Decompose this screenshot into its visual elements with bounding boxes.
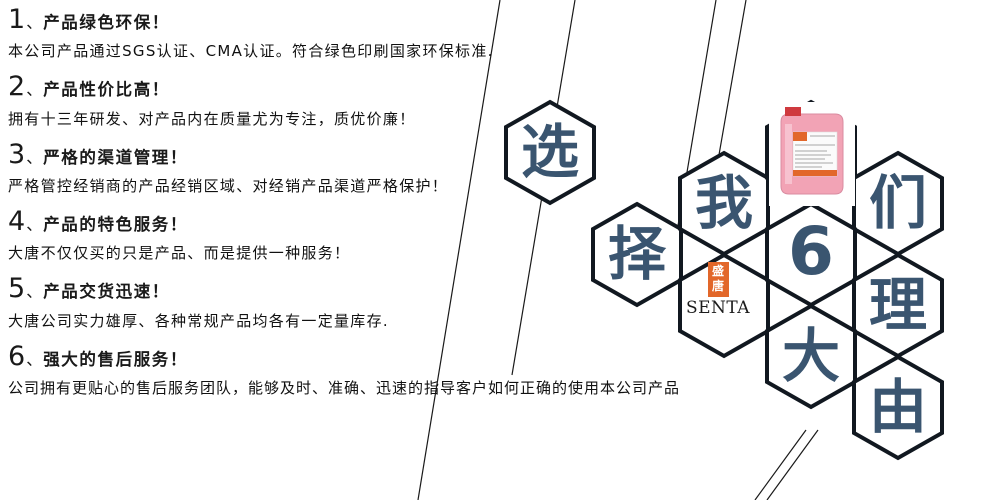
diagonal-line (668, 0, 716, 285)
feature-item-1: 1 、 产品绿色环保！ 本公司产品通过SGS认证、CMA认证。符合绿色印刷国家环… (8, 6, 668, 61)
feature-description: 拥有十三年研发、对产品内在质量尤为专注，质优价廉！ (8, 108, 668, 129)
feature-heading: 产品性价比高！ (43, 81, 170, 98)
hex-char-wo: 我 (695, 174, 753, 232)
feature-title: 6 、 强大的售后服务！ (8, 343, 668, 371)
feature-pause-mark: 、 (26, 217, 42, 234)
logo-char-tang: 唐 (708, 279, 729, 294)
feature-heading: 产品的特色服务！ (43, 216, 188, 233)
bottle-shine (785, 124, 792, 184)
bottle-label-footer (793, 170, 837, 176)
bottle-label-header (793, 132, 807, 141)
feature-description: 公司拥有更贴心的售后服务团队，能够及时、准确、迅速的指导客户如何正确的使用本公司… (8, 377, 668, 398)
feature-description: 大唐公司实力雄厚、各种常规产品均各有一定量库存. (8, 310, 668, 331)
feature-description: 大唐不仅仅买的只是产品、而是提供一种服务！ (8, 242, 668, 263)
feature-pause-mark: 、 (26, 82, 42, 99)
feature-description: 本公司产品通过SGS认证、CMA认证。符合绿色印刷国家环保标准. (8, 40, 668, 61)
feature-pause-mark: 、 (26, 15, 42, 32)
hex-char-da: 大 (782, 327, 840, 385)
feature-heading: 产品交货迅速！ (43, 283, 170, 300)
feature-title: 3 、 严格的渠道管理！ (8, 141, 668, 169)
logo-char-sheng: 盛 (708, 264, 729, 279)
promo-banner: 选 择 我 6 大 们 理 由 盛 唐 SENTA (0, 0, 1000, 500)
bottle-cap (785, 107, 801, 116)
feature-number: 4 (8, 208, 25, 236)
diagonal-line (755, 430, 806, 500)
feature-item-2: 2 、 产品性价比高！ 拥有十三年研发、对产品内在质量尤为专注，质优价廉！ (8, 73, 668, 128)
feature-item-4: 4 、 产品的特色服务！ 大唐不仅仅买的只是产品、而是提供一种服务！ (8, 208, 668, 263)
hex-char-you: 由 (869, 378, 927, 436)
feature-number: 1 (8, 6, 25, 34)
feature-title: 2 、 产品性价比高！ (8, 73, 668, 101)
feature-description: 严格管控经销商的产品经销区域、对经销产品渠道严格保护！ (8, 175, 668, 196)
feature-title: 1 、 产品绿色环保！ (8, 6, 668, 34)
senta-logo-mark: 盛 唐 (708, 262, 729, 297)
feature-pause-mark: 、 (26, 284, 42, 301)
feature-pause-mark: 、 (26, 150, 42, 167)
senta-logo: 盛 唐 SENTA (681, 262, 755, 318)
senta-wordmark: SENTA (681, 298, 755, 318)
diagonal-line (716, 0, 746, 172)
diagonal-line (767, 430, 818, 500)
feature-item-6: 6 、 强大的售后服务！ 公司拥有更贴心的售后服务团队，能够及时、准确、迅速的指… (8, 343, 668, 398)
feature-number: 2 (8, 73, 25, 101)
feature-title: 5 、 产品交货迅速！ (8, 275, 668, 303)
feature-number: 3 (8, 141, 25, 169)
feature-number: 5 (8, 275, 25, 303)
hex-char-li: 理 (869, 276, 927, 334)
feature-heading: 强大的售后服务！ (43, 351, 188, 368)
hex-char-six: 6 (782, 219, 840, 285)
feature-title: 4 、 产品的特色服务！ (8, 208, 668, 236)
feature-heading: 严格的渠道管理！ (43, 149, 188, 166)
feature-item-3: 3 、 严格的渠道管理！ 严格管控经销商的产品经销区域、对经销产品渠道严格保护！ (8, 141, 668, 196)
feature-pause-mark: 、 (26, 352, 42, 369)
product-bottle-image (767, 100, 857, 208)
hex-char-men: 们 (869, 174, 927, 232)
feature-number: 6 (8, 343, 25, 371)
feature-list: 1 、 产品绿色环保！ 本公司产品通过SGS认证、CMA认证。符合绿色印刷国家环… (8, 6, 668, 410)
feature-heading: 产品绿色环保！ (43, 14, 170, 31)
feature-item-5: 5 、 产品交货迅速！ 大唐公司实力雄厚、各种常规产品均各有一定量库存. (8, 275, 668, 330)
